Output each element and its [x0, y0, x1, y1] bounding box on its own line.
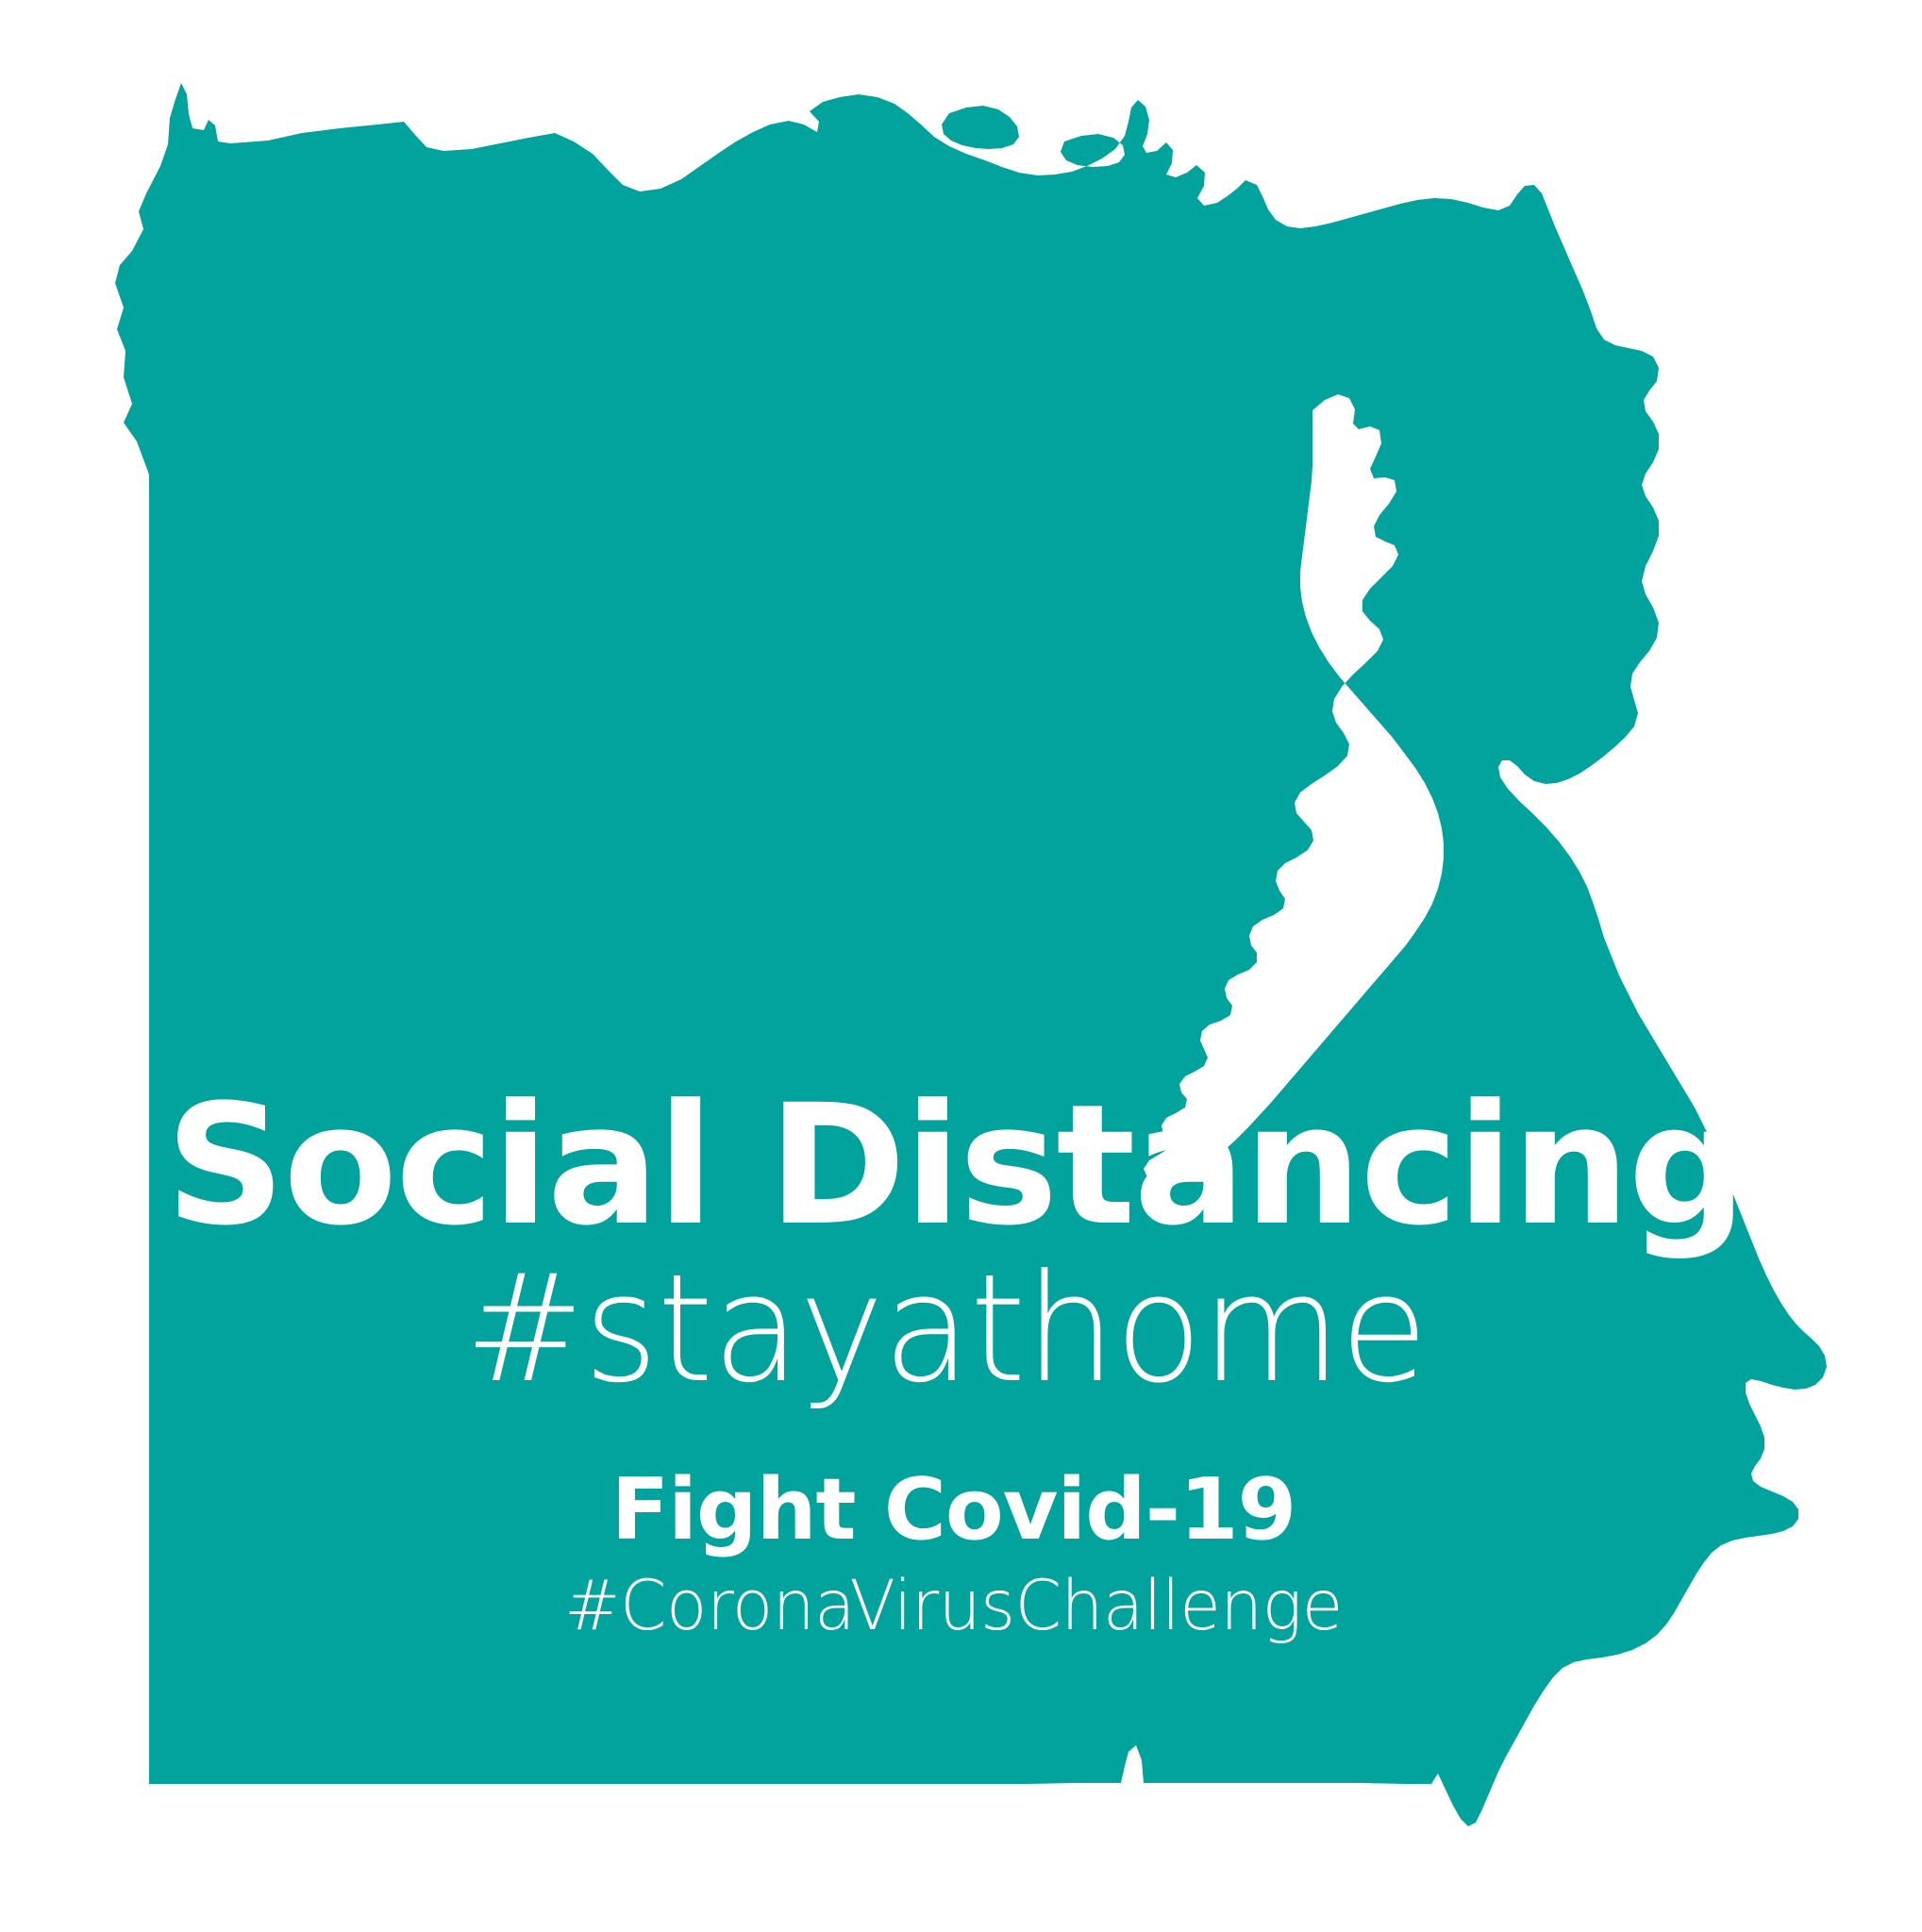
covid-awareness-poster: Social Distancing #stayathome Fight Covi…: [0, 0, 1922, 1932]
egypt-landmass-group: [115, 83, 1827, 1826]
egypt-mainland-shape: [115, 83, 1827, 1826]
egypt-map-silhouette-icon: [0, 0, 1922, 1932]
